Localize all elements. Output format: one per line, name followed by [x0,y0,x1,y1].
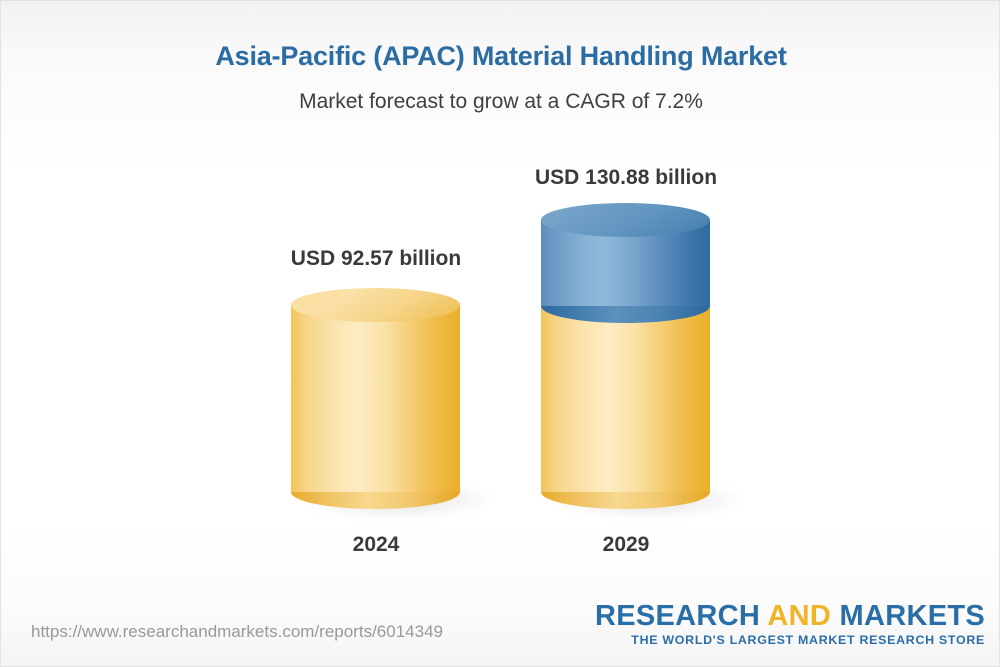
logo-word-research: RESEARCH [595,600,767,632]
logo-wordmark: RESEARCH AND MARKETS [595,601,985,631]
bar-column-2029[interactable]: USD 130.88 billion 2029 [541,1,710,601]
chart-plot-area: USD 92.57 billion 2024 USD 130.88 billio… [1,1,1000,601]
bar-category-label-2029: 2029 [466,533,786,557]
cylinder-top-2029 [541,203,710,237]
cylinder-side-2024 [291,305,460,492]
bar-value-label-2029: USD 130.88 billion [466,166,786,190]
bar-value-label-2024: USD 92.57 billion [216,247,536,271]
research-and-markets-logo[interactable]: RESEARCH AND MARKETS THE WORLD'S LARGEST… [595,601,985,648]
logo-tagline: THE WORLD'S LARGEST MARKET RESEARCH STOR… [595,633,985,648]
source-url[interactable]: https://www.researchandmarkets.com/repor… [31,622,443,642]
cylinder-2024 [291,288,460,509]
logo-word-markets: MARKETS [831,600,985,632]
logo-word-and: AND [767,600,831,632]
cylinder-side-yellow-2029 [541,306,710,492]
bar-column-2024[interactable]: USD 92.57 billion 2024 [291,1,460,601]
chart-canvas: Asia-Pacific (APAC) Material Handling Ma… [0,0,1000,667]
cylinder-top-2024 [291,288,460,322]
cylinder-2029 [541,203,710,509]
